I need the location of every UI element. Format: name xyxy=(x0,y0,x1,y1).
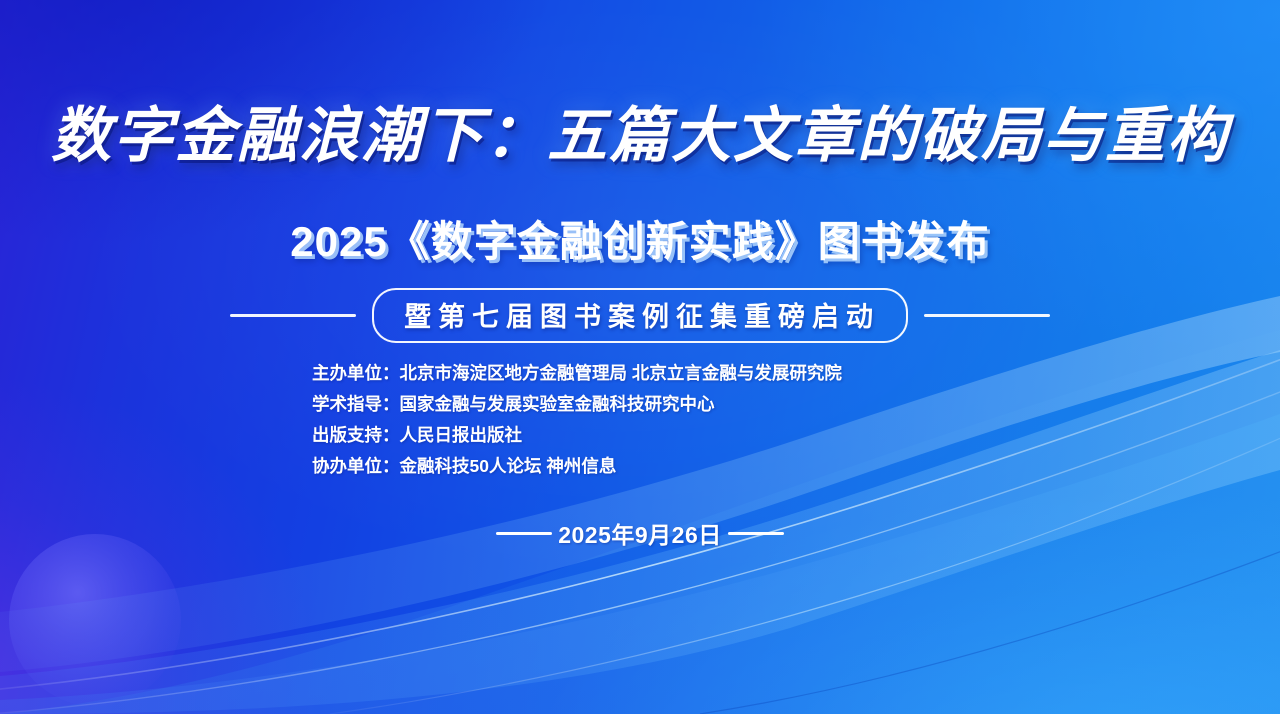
highlight-banner-row: 暨第七届图书案例征集重磅启动 xyxy=(0,292,1280,338)
organizer-info-block: 主办单位：北京市海淀区地方金融管理局 北京立言金融与发展研究院 学术指导：国家金… xyxy=(312,358,1012,482)
event-banner: 数字金融浪潮下：五篇大文章的破局与重构 2025《数字金融创新实践》图书发布 暨… xyxy=(0,0,1280,714)
highlight-pill-label: 暨第七届图书案例征集重磅启动 xyxy=(400,302,880,332)
info-line-host: 主办单位：北京市海淀区地方金融管理局 北京立言金融与发展研究院 xyxy=(312,358,1012,389)
date-rule-left xyxy=(496,532,552,535)
page-title: 数字金融浪潮下：五篇大文章的破局与重构 xyxy=(0,104,1280,169)
rule-right xyxy=(924,314,1050,317)
date-rule-right xyxy=(728,532,784,535)
rule-left xyxy=(230,314,356,317)
event-date: 2025年9月26日 xyxy=(558,516,722,550)
event-date-row: 2025年9月26日 xyxy=(0,516,1280,550)
subtitle: 2025《数字金融创新实践》图书发布 xyxy=(0,208,1280,269)
info-line-academic-guidance: 学术指导：国家金融与发展实验室金融科技研究中心 xyxy=(312,389,1012,420)
highlight-pill: 暨第七届图书案例征集重磅启动 xyxy=(372,288,908,343)
info-line-publishing-support: 出版支持：人民日报出版社 xyxy=(312,420,1012,451)
info-line-co-organizer: 协办单位：金融科技50人论坛 神州信息 xyxy=(312,451,1012,482)
